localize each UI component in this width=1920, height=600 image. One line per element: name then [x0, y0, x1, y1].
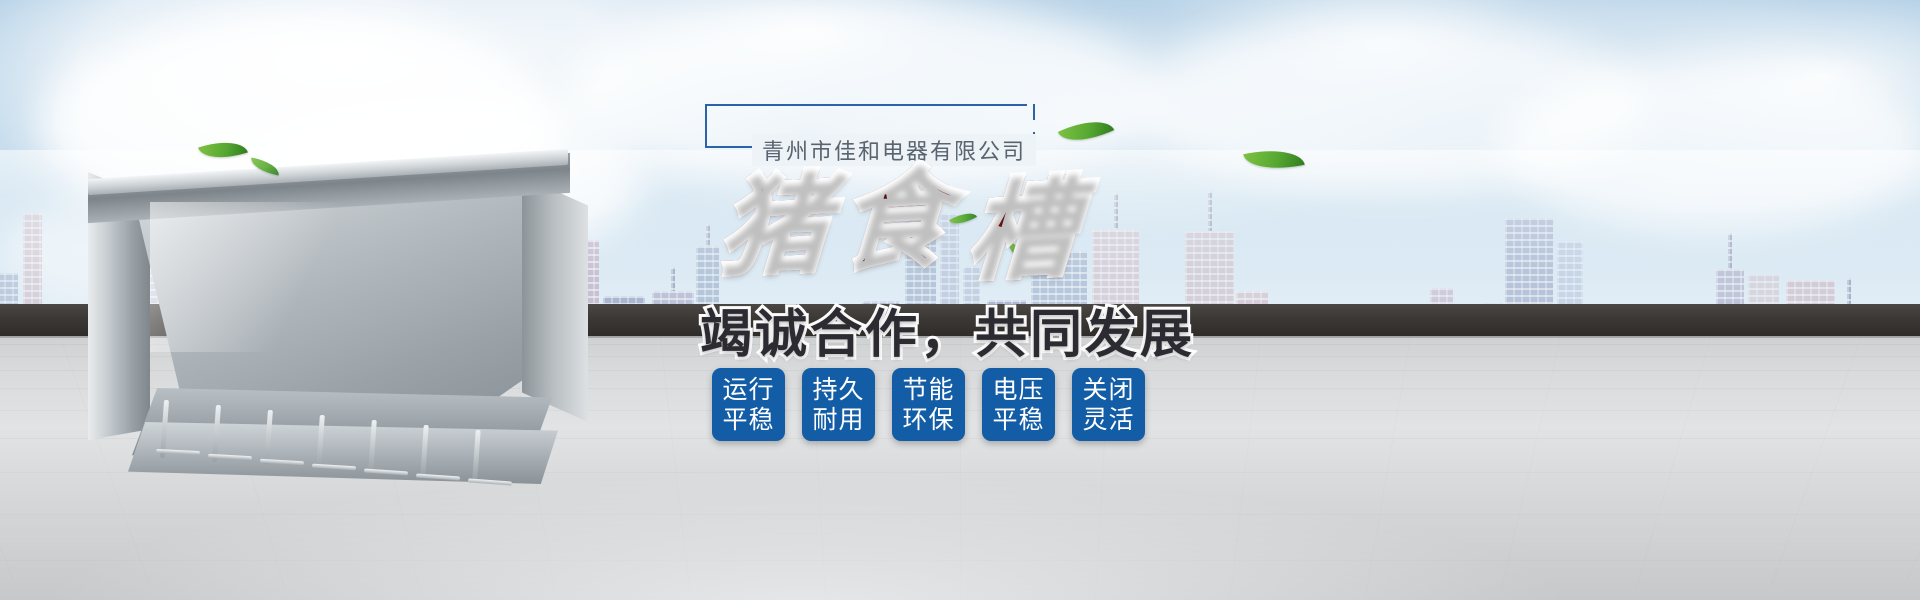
- badge-line-1: 运行: [722, 375, 774, 405]
- subtitle: 竭诚合作，共同发展: [700, 292, 1195, 367]
- skyline-spire: [671, 267, 675, 291]
- badge-line-2: 平稳: [992, 405, 1044, 435]
- title-char-1: 猪: [720, 172, 828, 280]
- page-title: 猪 食 槽: [710, 172, 1230, 282]
- trough-highlight: [150, 202, 510, 352]
- feature-badge-3[interactable]: 节能环保: [892, 368, 965, 441]
- badge-line-2: 环保: [902, 405, 954, 435]
- badge-line-1: 关闭: [1082, 375, 1134, 405]
- feature-badge-1[interactable]: 运行平稳: [712, 368, 785, 441]
- feature-badge-list: 运行平稳持久耐用节能环保电压平稳关闭灵活: [712, 368, 1145, 441]
- title-char-3: 槽: [968, 176, 1076, 284]
- feature-badge-2[interactable]: 持久耐用: [802, 368, 875, 441]
- banner-text-block: 青州市佳和电器有限公司 猪 食 槽 竭诚合作，共同发展 运行平稳持久耐用节能环保…: [690, 96, 1250, 566]
- badge-line-2: 灵活: [1082, 405, 1134, 435]
- skyline-spire: [1728, 233, 1732, 269]
- feature-badge-4[interactable]: 电压平稳: [982, 368, 1055, 441]
- title-char-2: 食: [840, 166, 948, 274]
- badge-line-1: 电压: [992, 375, 1044, 405]
- badge-line-1: 节能: [902, 375, 954, 405]
- promo-banner: 青州市佳和电器有限公司 猪 食 槽 竭诚合作，共同发展 运行平稳持久耐用节能环保…: [0, 0, 1920, 600]
- badge-line-2: 平稳: [722, 405, 774, 435]
- frame-right-top-tick: [1033, 104, 1035, 120]
- badge-line-2: 耐用: [812, 405, 864, 435]
- feature-badge-5[interactable]: 关闭灵活: [1072, 368, 1145, 441]
- trough-right-panel: [522, 176, 588, 422]
- product-image-pig-trough: [70, 150, 630, 480]
- badge-line-1: 持久: [812, 375, 864, 405]
